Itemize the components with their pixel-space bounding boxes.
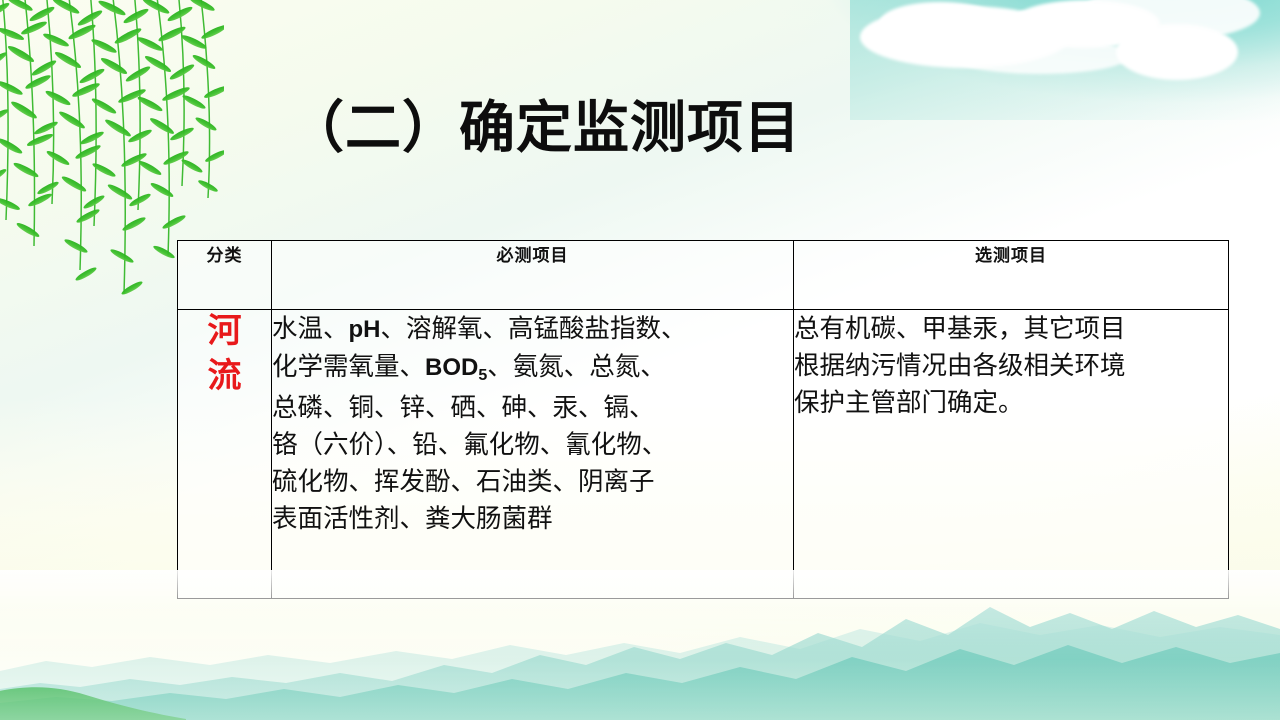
cloud-icon	[880, 2, 1000, 42]
required-line-3: 总磷、铜、锌、硒、砷、汞、镉、	[272, 389, 793, 426]
required-line-5: 硫化物、挥发酚、石油类、阴离子	[272, 463, 793, 500]
table-header-row: 分类 必测项目 选测项目	[178, 241, 1229, 310]
category-label-river: 河流	[204, 310, 245, 400]
slide: （二）确定监测项目 分类 必测项目 选测项目 河流 水温、pH、溶解氧、高锰酸盐…	[0, 0, 1280, 720]
column-header-category: 分类	[178, 241, 272, 310]
column-header-optional-items: 选测项目	[794, 241, 1229, 310]
optional-line-3: 保护主管部门确定。	[794, 384, 1228, 421]
required-items-text: 水温、pH、溶解氧、高锰酸盐指数、 化学需氧量、BOD5、氨氮、总氮、 总磷、铜…	[272, 310, 793, 537]
table-row: 河流 水温、pH、溶解氧、高锰酸盐指数、 化学需氧量、BOD5、氨氮、总氮、 总…	[178, 310, 1229, 599]
optional-line-1: 总有机碳、甲基汞，其它项目	[794, 310, 1228, 347]
cell-optional-items: 总有机碳、甲基汞，其它项目 根据纳污情况由各级相关环境 保护主管部门确定。	[794, 310, 1229, 599]
required-line-2: 化学需氧量、BOD5、氨氮、总氮、	[272, 348, 793, 389]
ph-label: pH	[349, 316, 381, 343]
required-line-4: 铬（六价）、铅、氟化物、氰化物、	[272, 426, 793, 463]
optional-line-2: 根据纳污情况由各级相关环境	[794, 347, 1228, 384]
required-line-6: 表面活性剂、粪大肠菌群	[272, 500, 793, 537]
bod5-label: BOD5	[425, 354, 487, 381]
cell-category: 河流	[178, 310, 272, 599]
monitoring-items-table: 分类 必测项目 选测项目 河流 水温、pH、溶解氧、高锰酸盐指数、 化学需氧量、…	[177, 240, 1229, 599]
optional-items-text: 总有机碳、甲基汞，其它项目 根据纳污情况由各级相关环境 保护主管部门确定。	[794, 310, 1228, 421]
required-line-1: 水温、pH、溶解氧、高锰酸盐指数、	[272, 310, 793, 348]
column-header-required-items: 必测项目	[272, 241, 794, 310]
cell-required-items: 水温、pH、溶解氧、高锰酸盐指数、 化学需氧量、BOD5、氨氮、总氮、 总磷、铜…	[272, 310, 794, 599]
slide-title: （二）确定监测项目	[288, 96, 801, 163]
cloud-icon	[950, 38, 1130, 74]
